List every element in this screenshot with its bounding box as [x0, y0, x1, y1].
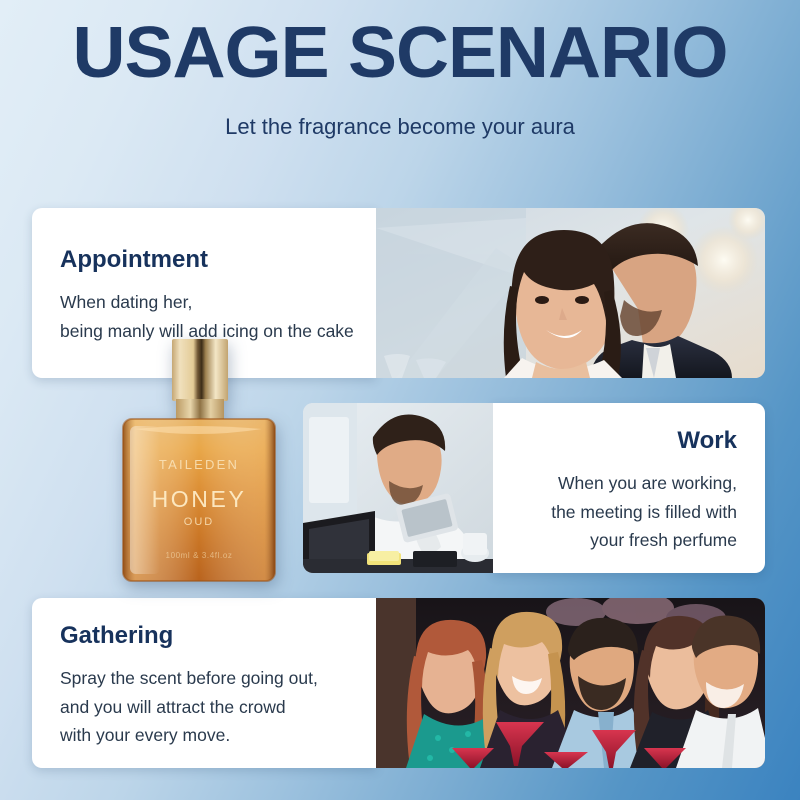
photo-couple-dating: [376, 208, 765, 378]
card-title-work: Work: [677, 427, 737, 455]
bottle-volume-text: 100ml & 3.4fl.oz: [166, 551, 233, 560]
page-title: USAGE SCENARIO: [0, 16, 800, 92]
page-subtitle: Let the fragrance become your aura: [0, 114, 800, 140]
photo-friends-party: [376, 598, 765, 768]
bottle-name-text: HONEY: [152, 486, 247, 512]
card-title-gathering: Gathering: [60, 622, 348, 650]
card-line: Spray the scent before going out,: [60, 664, 348, 693]
photo-man-working: [303, 403, 493, 573]
card-line: the meeting is filled with: [551, 498, 737, 527]
card-text-gathering: Gathering Spray the scent before going o…: [32, 598, 376, 768]
card-line: and you will attract the crowd: [60, 693, 348, 722]
card-text-work: Work When you are working, the meeting i…: [493, 403, 765, 573]
card-line: When you are working,: [558, 469, 737, 498]
scenario-card-work[interactable]: Work When you are working, the meeting i…: [303, 403, 765, 573]
scenario-card-gathering[interactable]: Gathering Spray the scent before going o…: [32, 598, 765, 768]
bottle-brand-text: TAILEDEN: [159, 457, 239, 472]
card-line: your fresh perfume: [590, 526, 737, 555]
card-title-appointment: Appointment: [60, 246, 348, 274]
product-bottle: TAILEDEN HONEY OUD 100ml & 3.4fl.oz: [114, 337, 284, 584]
page-header: USAGE SCENARIO Let the fragrance become …: [0, 0, 800, 140]
card-line: When dating her,: [60, 288, 348, 317]
card-line: with your every move.: [60, 721, 348, 750]
bottle-variant-text: OUD: [184, 516, 214, 528]
